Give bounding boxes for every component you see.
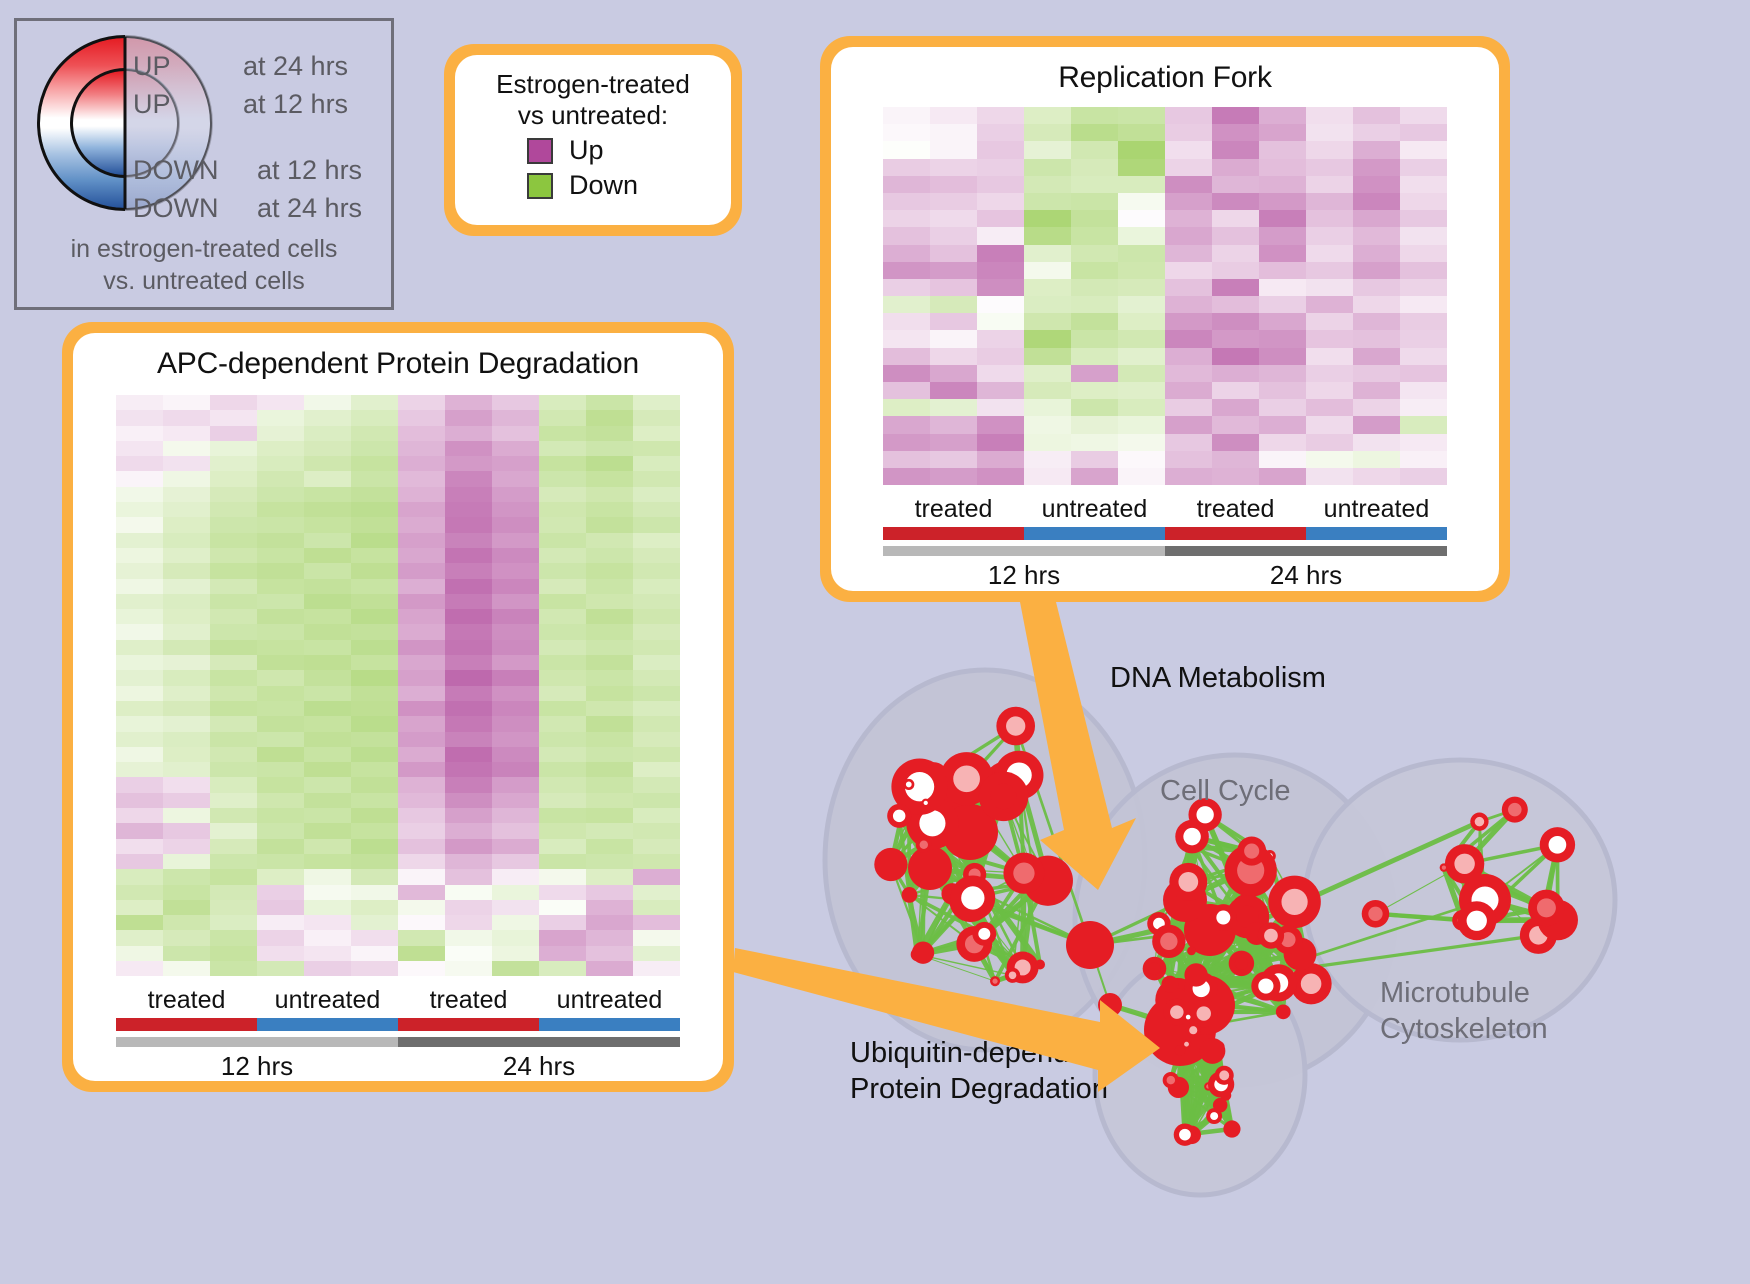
heatmap-cell <box>1212 451 1259 468</box>
heatmap-cell <box>304 456 351 471</box>
heatmap-cell <box>257 426 304 441</box>
time-label: 12 hrs <box>883 560 1165 591</box>
heatmap-cell <box>116 640 163 655</box>
heatmap-cell <box>304 670 351 685</box>
network-node-core <box>978 928 990 940</box>
heatmap-cell <box>1353 451 1400 468</box>
heatmap-cell <box>1212 416 1259 433</box>
heatmap-cell <box>1165 210 1212 227</box>
heatmap-cell <box>398 670 445 685</box>
heatmap-cell <box>163 533 210 548</box>
heatmap-cell <box>257 747 304 762</box>
apc-degradation-inner: APC-dependent Protein Degradation treate… <box>73 333 723 1081</box>
heatmap-cell <box>304 594 351 609</box>
heatmap-cell <box>1400 245 1447 262</box>
network-node <box>1223 1120 1240 1137</box>
heatmap-cell <box>304 808 351 823</box>
heatmap-cell <box>210 793 257 808</box>
heatmap-cell <box>492 946 539 961</box>
heatmap-cell <box>398 762 445 777</box>
heatmap-cell <box>163 410 210 425</box>
heatmap-cell <box>398 426 445 441</box>
heatmap-cell <box>398 808 445 823</box>
time-label: 12 hrs <box>116 1051 398 1081</box>
heatmap-cell <box>883 210 930 227</box>
heatmap-cell <box>210 426 257 441</box>
heatmap-cell <box>304 823 351 838</box>
heatmap-cell <box>304 609 351 624</box>
heatmap-cell <box>1118 451 1165 468</box>
heatmap-cell <box>1353 210 1400 227</box>
heatmap-cell <box>445 885 492 900</box>
heatmap-cell <box>586 594 633 609</box>
heatmap-cell <box>163 548 210 563</box>
heatmap-cell <box>257 823 304 838</box>
heatmap-cell <box>633 579 680 594</box>
heatmap-cell <box>1259 124 1306 141</box>
condition-bar <box>257 1018 398 1031</box>
heatmap-cell <box>1165 330 1212 347</box>
heatmap-cell <box>116 808 163 823</box>
heatmap-cell <box>1165 245 1212 262</box>
heatmap-cell <box>586 670 633 685</box>
heatmap-cell <box>1400 296 1447 313</box>
heatmap-cell <box>1165 399 1212 416</box>
heatmap-cell <box>1071 468 1118 485</box>
network-node-core <box>1216 911 1230 925</box>
heatmap-cell <box>445 854 492 869</box>
heatmap-cell <box>492 609 539 624</box>
heatmap-cell <box>539 808 586 823</box>
heatmap-cell <box>351 869 398 884</box>
heatmap-cell <box>398 716 445 731</box>
heatmap-cell <box>257 563 304 578</box>
heatmap-cell <box>586 502 633 517</box>
replication-fork-title: Replication Fork <box>831 61 1499 95</box>
heatmap-cell <box>1212 141 1259 158</box>
up-color-swatch <box>527 138 553 164</box>
cluster-label-dna-metabolism: DNA Metabolism <box>1110 662 1326 695</box>
heatmap-cell <box>1071 451 1118 468</box>
heatmap-cell <box>1024 176 1071 193</box>
heatmap-cell <box>633 487 680 502</box>
heatmap-cell <box>1306 399 1353 416</box>
network-node-core <box>1508 803 1522 817</box>
apc-degradation-panel: APC-dependent Protein Degradation treate… <box>62 322 734 1092</box>
heatmap-cell <box>163 701 210 716</box>
heatmap-cell <box>445 762 492 777</box>
heatmap-cell <box>398 563 445 578</box>
updown-legend-title: Estrogen-treated vs untreated: <box>465 69 721 131</box>
heatmap-cell <box>1024 159 1071 176</box>
heatmap-cell <box>210 915 257 930</box>
heatmap-cell <box>445 533 492 548</box>
heatmap-cell <box>210 533 257 548</box>
heatmap-cell <box>398 930 445 945</box>
time-label: 24 hrs <box>1165 560 1447 591</box>
heatmap-cell <box>539 946 586 961</box>
heatmap-cell <box>445 456 492 471</box>
heatmap-cell <box>539 548 586 563</box>
heatmap-cell <box>1212 193 1259 210</box>
heatmap-cell <box>445 915 492 930</box>
heatmap-cell <box>633 670 680 685</box>
heatmap-cell <box>492 655 539 670</box>
heatmap-cell <box>1118 124 1165 141</box>
heatmap-cell <box>304 747 351 762</box>
heatmap-cell <box>257 640 304 655</box>
heatmap-cell <box>445 900 492 915</box>
heatmap-cell <box>351 441 398 456</box>
heatmap-cell <box>210 563 257 578</box>
heatmap-cell <box>351 655 398 670</box>
heatmap-cell <box>1353 227 1400 244</box>
heatmap-cell <box>351 854 398 869</box>
heatmap-cell <box>1071 348 1118 365</box>
heatmap-cell <box>1071 313 1118 330</box>
heatmap-cell <box>304 395 351 410</box>
heatmap-cell <box>304 548 351 563</box>
heatmap-cell <box>1212 434 1259 451</box>
heatmap-cell <box>445 502 492 517</box>
heatmap-cell <box>492 762 539 777</box>
heatmap-cell <box>539 915 586 930</box>
heatmap-cell <box>1400 193 1447 210</box>
heatmap-cell <box>586 747 633 762</box>
heatmap-cell <box>539 716 586 731</box>
heatmap-cell <box>1024 141 1071 158</box>
heatmap-cell <box>304 533 351 548</box>
heatmap-cell <box>930 451 977 468</box>
heatmap-cell <box>398 732 445 747</box>
heatmap-cell <box>398 456 445 471</box>
heatmap-cell <box>351 747 398 762</box>
heatmap-cell <box>492 854 539 869</box>
heatmap-cell <box>539 885 586 900</box>
heatmap-cell <box>163 487 210 502</box>
cluster-label-microtubule-cytoskeleton: Microtubule Cytoskeleton <box>1380 975 1548 1048</box>
heatmap-cell <box>492 471 539 486</box>
heatmap-cell <box>1118 330 1165 347</box>
heatmap-cell <box>1024 365 1071 382</box>
network-node-core <box>893 810 905 822</box>
heatmap-cell <box>304 502 351 517</box>
heatmap-cell <box>445 686 492 701</box>
heatmap-cell <box>1306 330 1353 347</box>
heatmap-cell <box>163 624 210 639</box>
network-node-core <box>1148 962 1160 974</box>
heatmap-cell <box>1118 416 1165 433</box>
network-node <box>1213 1098 1228 1113</box>
network-node-core <box>991 783 1017 809</box>
heatmap-cell <box>586 686 633 701</box>
heatmap-cell <box>398 487 445 502</box>
heatmap-cell <box>1118 159 1165 176</box>
heatmap-cell <box>1118 365 1165 382</box>
heatmap-cell <box>1212 124 1259 141</box>
heatmap-cell <box>257 716 304 731</box>
heatmap-cell <box>351 777 398 792</box>
network-node <box>874 848 907 881</box>
condition-label: untreated <box>257 986 398 1015</box>
heatmap-cell <box>1024 330 1071 347</box>
heatmap-cell <box>304 777 351 792</box>
legend-item-down: Down <box>527 170 721 201</box>
heatmap-cell <box>633 441 680 456</box>
heatmap-cell <box>163 502 210 517</box>
legend-time-2: at 12 hrs <box>257 155 362 186</box>
heatmap-cell <box>163 563 210 578</box>
heatmap-cell <box>210 548 257 563</box>
condition-bar <box>116 1018 257 1031</box>
heatmap-cell <box>1353 365 1400 382</box>
heatmap-cell <box>977 262 1024 279</box>
heatmap-cell <box>1212 159 1259 176</box>
heatmap-cell <box>1165 107 1212 124</box>
heatmap-cell <box>351 456 398 471</box>
network-node <box>1098 993 1122 1017</box>
heatmap-cell <box>586 640 633 655</box>
network-node <box>912 942 934 964</box>
heatmap-cell <box>445 441 492 456</box>
heatmap-cell <box>1024 348 1071 365</box>
heatmap-cell <box>116 441 163 456</box>
heatmap-cell <box>539 533 586 548</box>
heatmap-cell <box>633 410 680 425</box>
heatmap-cell <box>1259 176 1306 193</box>
heatmap-cell <box>1353 141 1400 158</box>
heatmap-cell <box>398 839 445 854</box>
heatmap-cell <box>1306 451 1353 468</box>
network-node-core <box>1454 854 1474 874</box>
heatmap-cell <box>930 107 977 124</box>
heatmap-cell <box>163 732 210 747</box>
heatmap-cell <box>1212 176 1259 193</box>
heatmap-cell <box>1306 365 1353 382</box>
heatmap-cell <box>930 227 977 244</box>
heatmap-cell <box>1259 416 1306 433</box>
heatmap-cell <box>1165 313 1212 330</box>
heatmap-cell <box>1212 262 1259 279</box>
heatmap-cell <box>257 502 304 517</box>
heatmap-cell <box>977 365 1024 382</box>
heatmap-cell <box>1071 262 1118 279</box>
heatmap-cell <box>445 823 492 838</box>
heatmap-cell <box>257 869 304 884</box>
apc-condition-bars <box>116 1018 680 1031</box>
heatmap-cell <box>1306 313 1353 330</box>
apc-degradation-axis: treateduntreatedtreateduntreated 12 hrs2… <box>116 986 680 1081</box>
heatmap-cell <box>116 594 163 609</box>
heatmap-cell <box>1071 399 1118 416</box>
heatmap-cell <box>539 777 586 792</box>
heatmap-cell <box>1353 399 1400 416</box>
heatmap-cell <box>304 624 351 639</box>
heatmap-cell <box>1353 107 1400 124</box>
heatmap-cell <box>210 471 257 486</box>
heatmap-cell <box>539 624 586 639</box>
heatmap-cell <box>930 279 977 296</box>
heatmap-cell <box>116 533 163 548</box>
heatmap-cell <box>304 471 351 486</box>
heatmap-cell <box>633 624 680 639</box>
heatmap-cell <box>977 124 1024 141</box>
heatmap-cell <box>492 624 539 639</box>
heatmap-cell <box>398 885 445 900</box>
network-node-core <box>1244 843 1259 858</box>
heatmap-cell <box>930 159 977 176</box>
heatmap-cell <box>116 900 163 915</box>
updown-legend-inner: Estrogen-treated vs untreated: Up Down <box>455 55 731 225</box>
heatmap-cell <box>1118 107 1165 124</box>
heatmap-cell <box>257 441 304 456</box>
heatmap-cell <box>398 410 445 425</box>
heatmap-cell <box>1071 176 1118 193</box>
ring-outlines <box>37 35 227 225</box>
heatmap-cell <box>1259 279 1306 296</box>
replication-fork-panel: Replication Fork treateduntreatedtreated… <box>820 36 1510 602</box>
network-node <box>1161 976 1178 993</box>
heatmap-cell <box>116 686 163 701</box>
heatmap-cell <box>539 594 586 609</box>
heatmap-cell <box>351 930 398 945</box>
heatmap-cell <box>1306 210 1353 227</box>
network-node-core <box>1442 866 1446 870</box>
heatmap-cell <box>586 808 633 823</box>
heatmap-cell <box>633 930 680 945</box>
heatmap-cell <box>1165 468 1212 485</box>
heatmap-cell <box>586 471 633 486</box>
heatmap-cell <box>398 517 445 532</box>
heatmap-cell <box>1024 434 1071 451</box>
heatmap-cell <box>492 410 539 425</box>
network-node <box>902 887 918 903</box>
updown-title-line-1: Estrogen-treated <box>465 69 721 100</box>
heatmap-cell <box>586 533 633 548</box>
heatmap-cell <box>539 732 586 747</box>
heatmap-cell <box>304 793 351 808</box>
heatmap-cell <box>1212 382 1259 399</box>
heatmap-cell <box>633 946 680 961</box>
heatmap-cell <box>1259 330 1306 347</box>
heatmap-cell <box>930 382 977 399</box>
heatmap-cell <box>398 624 445 639</box>
heatmap-cell <box>1400 416 1447 433</box>
heatmap-cell <box>116 548 163 563</box>
heatmap-cell <box>883 176 930 193</box>
heatmap-cell <box>586 961 633 976</box>
heatmap-cell <box>883 262 930 279</box>
heatmap-cell <box>539 900 586 915</box>
heatmap-cell <box>351 502 398 517</box>
heatmap-cell <box>163 854 210 869</box>
heatmap-cell <box>1259 210 1306 227</box>
network-node-core <box>1037 962 1042 967</box>
heatmap-cell <box>116 609 163 624</box>
heatmap-cell <box>492 456 539 471</box>
heatmap-cell <box>930 262 977 279</box>
heatmap-cell <box>586 869 633 884</box>
heatmap-cell <box>1353 382 1400 399</box>
heatmap-cell <box>116 839 163 854</box>
heatmap-cell <box>492 395 539 410</box>
heatmap-cell <box>445 946 492 961</box>
heatmap-cell <box>257 395 304 410</box>
heatmap-cell <box>210 624 257 639</box>
heatmap-cell <box>116 762 163 777</box>
heatmap-cell <box>1259 262 1306 279</box>
heatmap-cell <box>210 839 257 854</box>
heatmap-cell <box>586 946 633 961</box>
heatmap-cell <box>539 747 586 762</box>
heatmap-cell <box>977 107 1024 124</box>
apc-condition-labels: treateduntreatedtreateduntreated <box>116 986 680 1015</box>
heatmap-cell <box>633 915 680 930</box>
up-label: Up <box>569 135 604 166</box>
heatmap-cell <box>163 930 210 945</box>
heatmap-cell <box>930 330 977 347</box>
heatmap-cell <box>210 456 257 471</box>
heatmap-cell <box>1118 176 1165 193</box>
heatmap-cell <box>1212 468 1259 485</box>
heatmap-cell <box>930 141 977 158</box>
heatmap-cell <box>539 471 586 486</box>
heatmap-cell <box>257 533 304 548</box>
heatmap-cell <box>977 330 1024 347</box>
heatmap-cell <box>445 640 492 655</box>
heatmap-cell <box>257 548 304 563</box>
heatmap-cell <box>163 594 210 609</box>
heatmap-cell <box>163 747 210 762</box>
heatmap-cell <box>163 885 210 900</box>
heatmap-cell <box>304 655 351 670</box>
cluster-label-cell-cycle: Cell Cycle <box>1160 775 1291 808</box>
heatmap-cell <box>1306 262 1353 279</box>
condition-label: untreated <box>1024 495 1165 524</box>
heatmap-cell <box>1024 210 1071 227</box>
heatmap-cell <box>1353 159 1400 176</box>
heatmap-cell <box>210 701 257 716</box>
heatmap-cell <box>398 854 445 869</box>
condition-label: untreated <box>1306 495 1447 524</box>
heatmap-cell <box>304 716 351 731</box>
condition-bar <box>539 1018 680 1031</box>
heatmap-cell <box>445 426 492 441</box>
updown-legend-panel: Estrogen-treated vs untreated: Up Down <box>444 44 742 236</box>
condition-bar <box>398 1018 539 1031</box>
heatmap-cell <box>257 517 304 532</box>
pathway-network-diagram: DNA Metabolism Cell Cycle Microtubule Cy… <box>780 600 1750 1279</box>
heatmap-cell <box>492 686 539 701</box>
heatmap-cell <box>539 456 586 471</box>
heatmap-cell <box>116 395 163 410</box>
network-node-core <box>1197 1006 1211 1020</box>
heatmap-cell <box>492 487 539 502</box>
heatmap-cell <box>1024 227 1071 244</box>
heatmap-cell <box>257 732 304 747</box>
heatmap-cell <box>977 348 1024 365</box>
heatmap-cell <box>1024 451 1071 468</box>
heatmap-cell <box>445 716 492 731</box>
heatmap-cell <box>492 915 539 930</box>
heatmap-cell <box>1071 124 1118 141</box>
heatmap-cell <box>492 961 539 976</box>
network-svg <box>780 600 1750 1279</box>
heatmap-cell <box>1353 330 1400 347</box>
network-node <box>1066 921 1114 969</box>
heatmap-cell <box>633 885 680 900</box>
heatmap-cell <box>1400 365 1447 382</box>
